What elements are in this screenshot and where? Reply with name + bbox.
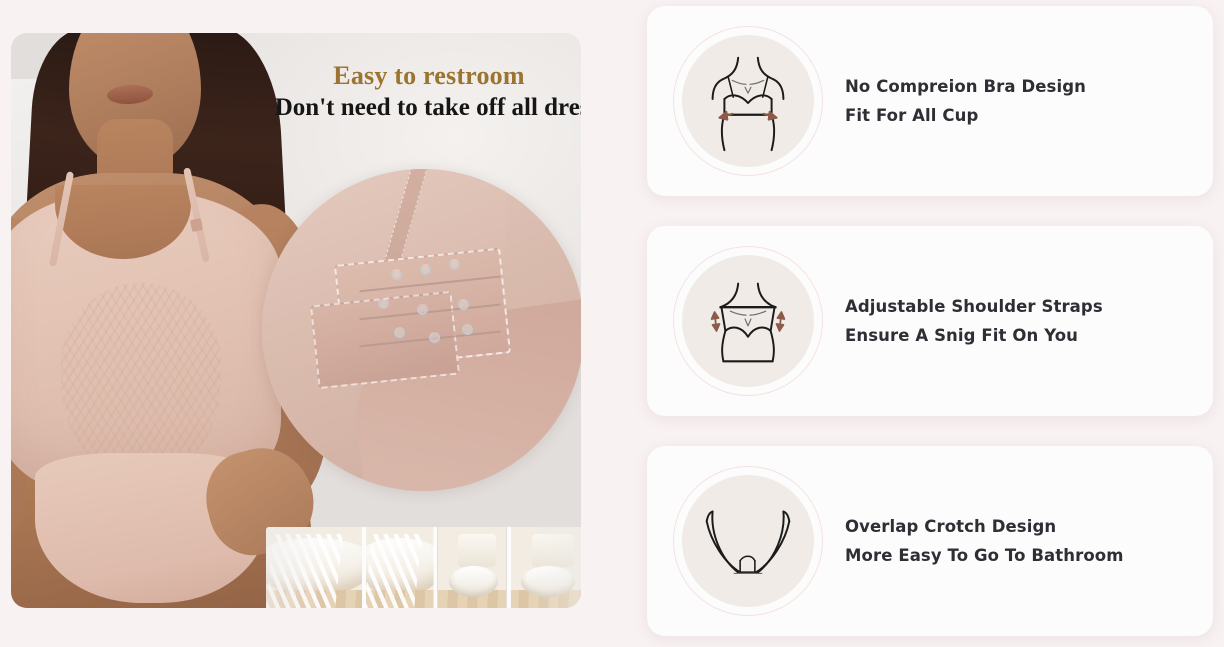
feature-text: Adjustable Shoulder Straps Ensure A Snig… [845, 297, 1103, 346]
feature-subtitle: More Easy To Go To Bathroom [845, 546, 1124, 566]
compression-texture [61, 283, 221, 473]
window-light-shape [266, 534, 343, 608]
hook-icon [417, 304, 428, 315]
feature-title: Adjustable Shoulder Straps [845, 297, 1103, 317]
toilet-bowl-shape [521, 566, 575, 597]
hook-icon [420, 264, 431, 275]
feature-card[interactable]: Overlap Crotch Design More Easy To Go To… [647, 446, 1213, 636]
toilet-bowl-shape [449, 566, 498, 597]
feature-text: Overlap Crotch Design More Easy To Go To… [845, 517, 1124, 566]
hook-icon [462, 324, 473, 335]
bathroom-photo-cell [509, 527, 581, 608]
feature-card[interactable]: Adjustable Shoulder Straps Ensure A Snig… [647, 226, 1213, 416]
product-hero-image[interactable]: Easy to restroom Don't need to take off … [11, 33, 581, 608]
hook-icon [378, 298, 389, 309]
hook-icon [391, 269, 402, 280]
bathroom-photo-strip [266, 527, 581, 608]
toilet-tank-shape [532, 534, 574, 567]
product-feature-page: Easy to restroom Don't need to take off … [0, 0, 1224, 647]
bra-band-no-compression-glyph [689, 42, 807, 160]
bathroom-photo-cell [438, 527, 506, 608]
window-light-shape [365, 534, 422, 608]
feature-subtitle: Fit For All Cup [845, 106, 1086, 126]
toilet-tank-shape [458, 534, 496, 567]
feature-card[interactable]: No Compreion Bra Design Fit For All Cup [647, 6, 1213, 196]
hook-icon [449, 259, 460, 270]
hook-and-eye-closure-closeup [262, 169, 581, 491]
bra-band-no-compression-icon [673, 26, 823, 176]
hero-pane: Easy to restroom Don't need to take off … [0, 0, 640, 647]
overlap-crotch-icon [673, 466, 823, 616]
adjustable-shoulder-straps-glyph [689, 262, 807, 380]
bathroom-photo-cell [365, 527, 435, 608]
hook-icon [394, 327, 405, 338]
overlap-crotch-glyph [689, 482, 807, 600]
strap-adjuster-clip [190, 218, 203, 232]
bathroom-photo-cell [266, 527, 362, 608]
feature-cards-list: No Compreion Bra Design Fit For All Cup [640, 0, 1224, 647]
feature-subtitle: Ensure A Snig Fit On You [845, 326, 1103, 346]
feature-title: Overlap Crotch Design [845, 517, 1124, 537]
feature-title: No Compreion Bra Design [845, 77, 1086, 97]
feature-text: No Compreion Bra Design Fit For All Cup [845, 77, 1086, 126]
adjustable-shoulder-straps-icon [673, 246, 823, 396]
